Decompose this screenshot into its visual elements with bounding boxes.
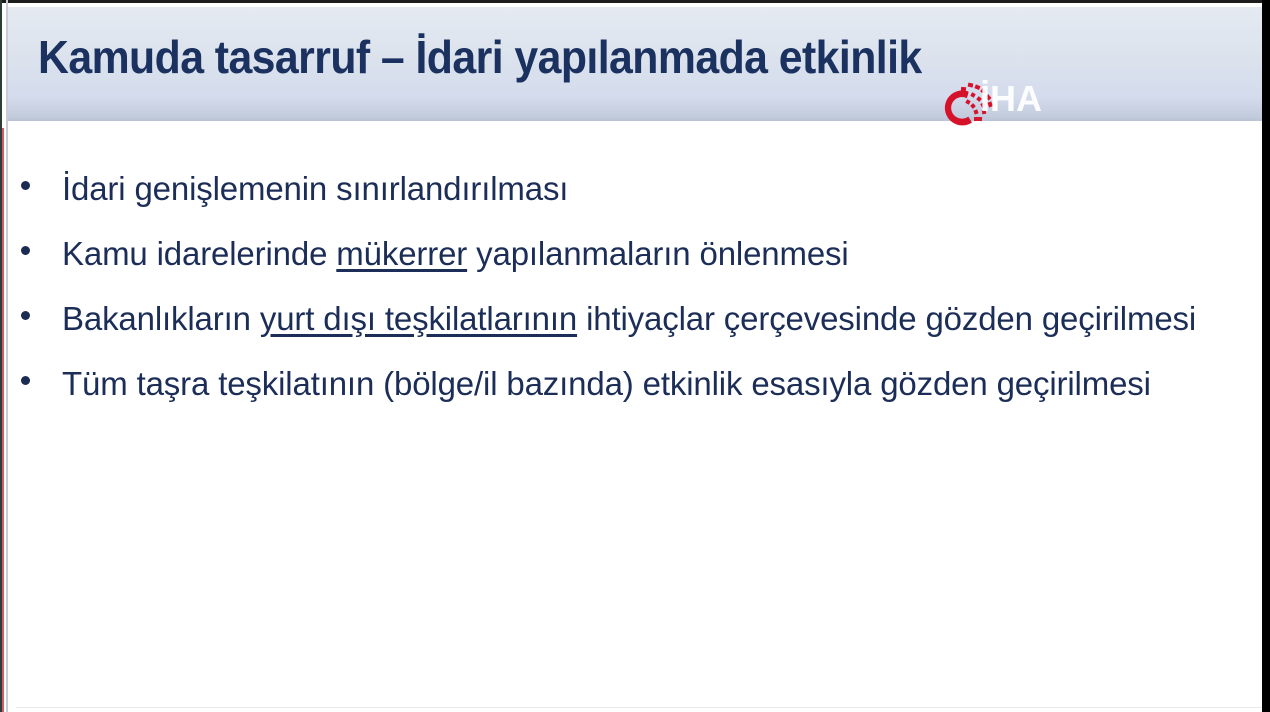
bullet-2-emphasis: mükerrer: [336, 235, 467, 272]
presentation-slide: Kamuda tasarruf – İdari yapılanmada etki…: [8, 3, 1262, 710]
list-item: Bakanlıkların yurt dışı teşkilatlarının …: [8, 293, 1262, 345]
bullet-dot-icon: [21, 181, 30, 190]
list-item: Tüm taşra teşkilatının (bölge/il bazında…: [8, 358, 1262, 410]
slide-title: Kamuda tasarruf – İdari yapılanmada etki…: [38, 30, 922, 84]
bullet-2-segment-3: yapılanmaların önlenmesi: [467, 235, 848, 272]
bullet-1-segment-1: İdari genişlemenin sınırlandırılması: [62, 170, 568, 207]
list-item: İdari genişlemenin sınırlandırılması: [8, 163, 1262, 215]
list-item: Kamu idarelerinde mükerrer yapılanmaları…: [8, 228, 1262, 280]
slide-bullet-list: İdari genişlemenin sınırlandırılması Kam…: [8, 163, 1262, 423]
frame-left-accent-line: [2, 128, 4, 712]
bullet-2-segment-1: Kamu idarelerinde: [62, 235, 336, 272]
bullet-dot-icon: [21, 376, 30, 385]
bullet-text-4: Tüm taşra teşkilatının (bölge/il bazında…: [62, 358, 1252, 410]
frame-right-border: [1262, 0, 1270, 712]
slide-title-banner: Kamuda tasarruf – İdari yapılanmada etki…: [8, 7, 1262, 121]
bullet-text-2: Kamu idarelerinde mükerrer yapılanmaları…: [62, 228, 1252, 280]
bullet-dot-icon: [21, 311, 30, 320]
video-frame: Kamuda tasarruf – İdari yapılanmada etki…: [0, 0, 1270, 712]
bullet-text-1: İdari genişlemenin sınırlandırılması: [62, 163, 1252, 215]
bullet-3-emphasis: yurt dışı teşkilatlarının: [260, 300, 577, 337]
bullet-3-segment-3: ihtiyaçlar çerçevesinde gözden geçirilme…: [577, 300, 1196, 337]
bullet-text-3: Bakanlıkların yurt dışı teşkilatlarının …: [62, 293, 1252, 345]
bullet-dot-icon: [21, 246, 30, 255]
bullet-4-segment-1: Tüm taşra teşkilatının (bölge/il bazında…: [62, 365, 1151, 402]
bullet-3-segment-1: Bakanlıkların: [62, 300, 260, 337]
frame-bottom-hairline: [16, 707, 1262, 708]
